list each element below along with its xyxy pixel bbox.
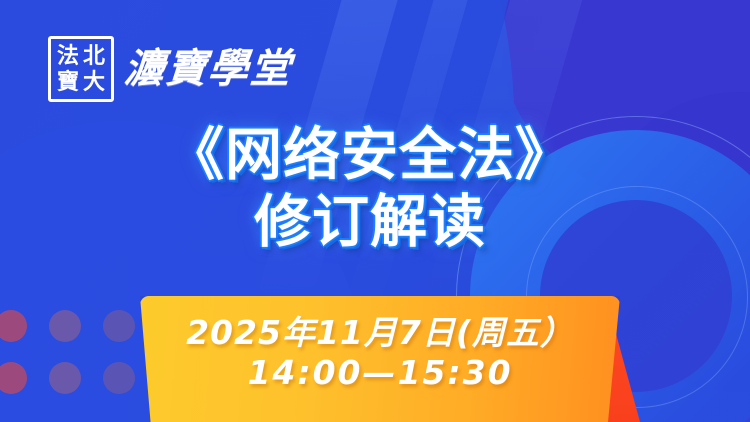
seal-character-3: 寶 xyxy=(55,69,81,95)
seal-character-2: 北 xyxy=(81,43,107,69)
brand-logo-lockup: 法 北 寶 大 灋寶學堂 xyxy=(48,36,292,102)
seal-character-1: 法 xyxy=(55,43,81,69)
title-line-1: 《网络安全法》 xyxy=(0,122,740,189)
brand-name-calligraphy: 灋寶學堂 xyxy=(123,49,294,89)
date-banner: 2025年11月7日(周五） 14:00—15:30 xyxy=(140,296,620,422)
seal-stamp-icon: 法 北 寶 大 xyxy=(48,36,114,102)
event-date: 2025年11月7日(周五） xyxy=(186,313,574,353)
webinar-poster: 法 北 寶 大 灋寶學堂 《网络安全法》 修订解读 2025年11月7日(周五）… xyxy=(0,0,750,422)
date-banner-wrapper: 2025年11月7日(周五） 14:00—15:30 xyxy=(0,296,750,422)
seal-character-4: 大 xyxy=(81,69,107,95)
event-time: 14:00—15:30 xyxy=(247,353,512,393)
page-title: 《网络安全法》 修订解读 xyxy=(0,122,750,255)
title-line-2: 修订解读 xyxy=(0,189,740,256)
